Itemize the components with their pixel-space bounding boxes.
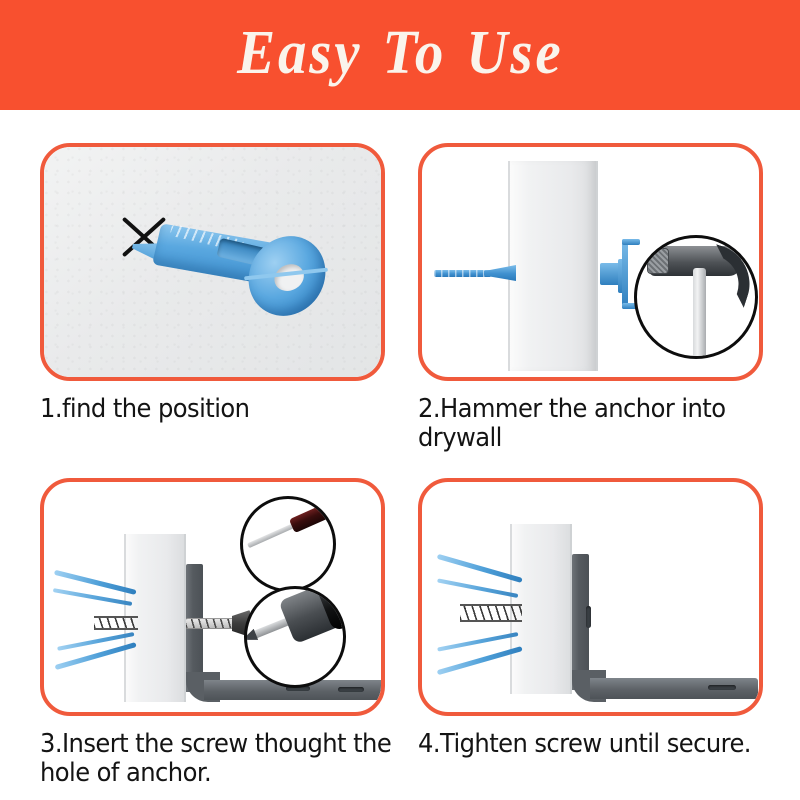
title-word-1: Easy (237, 19, 362, 87)
anchor-wing-upper-inner (437, 578, 518, 597)
step-1-image-frame (40, 143, 385, 381)
drywall-slab (508, 161, 598, 371)
title-word-3: Use (466, 19, 563, 87)
step-3-image-frame (40, 478, 385, 716)
step-1: 1.find the position (40, 143, 385, 424)
step-1-caption: 1.find the position (40, 395, 392, 424)
screwdriver-handle (289, 500, 336, 533)
scene-insert-screw-through-anchor (44, 482, 381, 712)
screwdriver-shaft (247, 522, 297, 548)
step-4-caption: 4.Tighten screw until secure. (418, 730, 770, 759)
screw-threads-tightened (460, 604, 522, 622)
bracket-hole-1 (708, 685, 736, 690)
bracket-hole-2 (338, 687, 364, 692)
step-2-image-frame (418, 143, 763, 381)
scene-find-the-position (44, 147, 381, 377)
hammer-inset (634, 235, 758, 359)
steps-grid: 1.find the position (0, 110, 800, 800)
step-3: 3.Insert the screw thought the hole of a… (40, 478, 385, 788)
title-word-2: To (382, 19, 446, 87)
scene-hammer-anchor-into-drywall (422, 147, 759, 377)
anchor-rear-fin (622, 239, 628, 309)
step-2-caption: 2.Hammer the anchor into drywall (418, 395, 770, 453)
drill-driver-inset (244, 586, 346, 688)
scene-tighten-screw-until-secure (422, 482, 759, 712)
bracket-screw-boss (586, 606, 591, 628)
step-4-image-frame (418, 478, 763, 716)
l-bracket-horizontal-arm (590, 678, 758, 699)
anchor-shaft-front (434, 270, 492, 277)
page-title: EasyToUse (227, 22, 573, 88)
hammer-striking-face (647, 248, 669, 274)
anchor-shaft-taper (484, 265, 516, 281)
anchor-wing-lower-inner (437, 632, 518, 651)
step-4: 4.Tighten screw until secure. (418, 478, 763, 759)
anchor-rear-tip-top (622, 239, 640, 245)
screw-threads-in-anchor (94, 616, 138, 630)
screwdriver-inset (240, 496, 336, 592)
instruction-infographic: EasyToUse (0, 0, 800, 800)
hammer-handle (693, 268, 706, 359)
step-2: 2.Hammer the anchor into drywall (418, 143, 763, 453)
screw-shaft (186, 618, 238, 629)
step-3-caption: 3.Insert the screw thought the hole of a… (40, 730, 392, 788)
header-banner: EasyToUse (0, 0, 800, 110)
